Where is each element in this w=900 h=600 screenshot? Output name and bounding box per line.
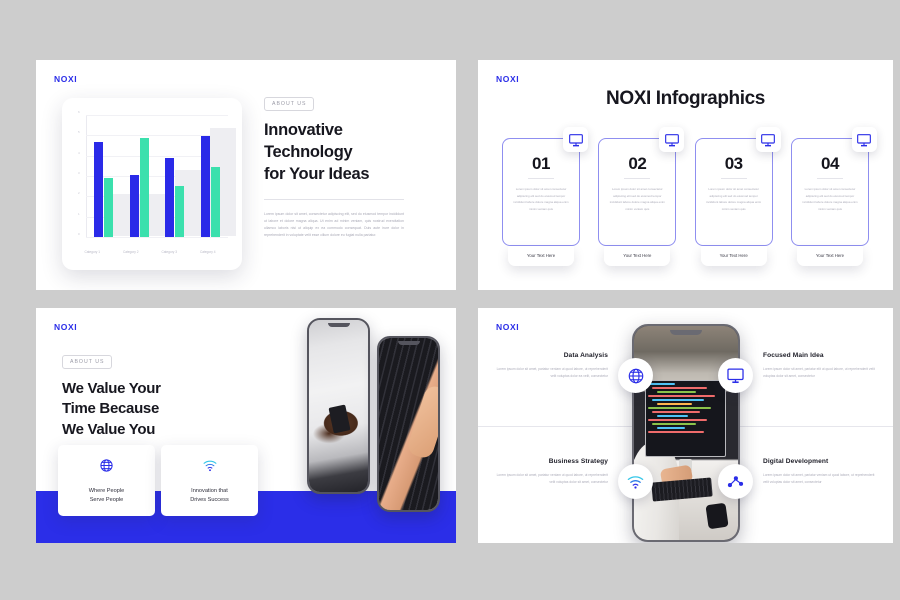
card-number: 02: [607, 155, 667, 172]
label-line-2: Serve People: [64, 496, 149, 504]
feature-body: Lorem ipsum dolor sit amet, pariatur ven…: [496, 472, 608, 486]
bar[interactable]: [94, 142, 103, 237]
title-line-1: We Value Your: [62, 379, 161, 399]
code-line: [657, 391, 696, 393]
wifi-icon: [202, 460, 218, 477]
divider: [528, 178, 554, 179]
infographic-card[interactable]: 04Lorem ipsum dolor sit amet consectetur…: [791, 138, 869, 266]
monitor-icon[interactable]: [718, 358, 753, 393]
page-title: Innovative Technology for Your Ideas: [264, 120, 424, 186]
y-axis-tick-label: 6: [78, 110, 80, 114]
feature-card-list: Where People Serve People Innovation tha…: [58, 445, 258, 516]
feature-heading: Business Strategy: [496, 458, 608, 465]
bar-group: [123, 115, 156, 237]
share-nodes-icon[interactable]: [718, 464, 753, 499]
globe-icon: [99, 460, 114, 477]
feature-card-label: Innovation that Drives Success: [167, 487, 252, 504]
chart-plot-area: 0123456: [86, 116, 228, 238]
feature-heading: Focused Main Idea: [763, 352, 875, 359]
code-line: [652, 399, 703, 401]
card-number: 03: [704, 155, 764, 172]
feature-heading: Digital Development: [763, 458, 875, 465]
feature-item-business-strategy: Business Strategy Lorem ipsum dolor sit …: [496, 458, 608, 486]
bar[interactable]: [211, 167, 220, 237]
divider: [624, 178, 650, 179]
divider: [264, 199, 404, 200]
grid-line: [86, 237, 228, 238]
page-title: NOXI Infographics: [478, 88, 893, 110]
code-line: [648, 431, 704, 433]
card-body-text: Lorem ipsum dolor sit amet consectetur a…: [800, 186, 860, 213]
developer-at-desk-photo: [634, 326, 738, 540]
code-line: [657, 427, 685, 429]
body-paragraph: Lorem ipsum dolor sit amet, consectetur …: [264, 211, 404, 240]
code-line: [652, 423, 696, 425]
phone-mockup-right: [377, 336, 440, 512]
infographic-card[interactable]: 02Lorem ipsum dolor sit amet consectetur…: [598, 138, 676, 266]
globe-icon[interactable]: [618, 358, 653, 393]
monitor-screen-with-code: [645, 380, 726, 457]
wifi-icon[interactable]: [618, 464, 653, 499]
feature-body: Lorem ipsum dolor sit amet, pariatur ven…: [496, 366, 608, 380]
card-body-text: Lorem ipsum dolor sit amet consectetur a…: [511, 186, 571, 213]
keyboard: [651, 477, 713, 501]
monitor-icon[interactable]: [563, 127, 588, 152]
infographic-card-list: 01Lorem ipsum dolor sit amet consectetur…: [502, 138, 869, 266]
about-us-badge: ABOUT US: [264, 97, 314, 111]
code-line: [648, 383, 675, 385]
slide-3-text-block: ABOUT US We Value Your Time Because We V…: [62, 350, 161, 440]
infographic-card-body[interactable]: 03Lorem ipsum dolor sit amet consectetur…: [695, 138, 773, 246]
logo-noxi: NOXI: [54, 322, 77, 332]
card-tab-label[interactable]: Your Text Here: [508, 246, 574, 266]
card-number: 01: [511, 155, 571, 172]
infographic-card[interactable]: 03Lorem ipsum dolor sit amet consectetur…: [695, 138, 773, 266]
card-tab-label[interactable]: Your Text Here: [701, 246, 767, 266]
feature-body: Lorem ipsum dolor sit amet, pariatur ven…: [763, 472, 875, 486]
card-body-text: Lorem ipsum dolor sit amet consectetur a…: [607, 186, 667, 213]
card-tab-label[interactable]: Your Text Here: [604, 246, 670, 266]
title-line-3: We Value You: [62, 420, 161, 440]
infographic-card-body[interactable]: 04Lorem ipsum dolor sit amet consectetur…: [791, 138, 869, 246]
feature-card-where-people-serve-people[interactable]: Where People Serve People: [58, 445, 155, 516]
y-axis-tick-label: 2: [78, 191, 80, 195]
phone-mockup-center: [632, 324, 740, 542]
y-axis-tick-label: 4: [78, 151, 80, 155]
label-line-2: Drives Success: [167, 496, 252, 504]
code-line: [652, 411, 699, 413]
bar-group: [87, 115, 120, 237]
monitor-icon[interactable]: [659, 127, 684, 152]
phone-mockup-group: [307, 318, 440, 512]
x-axis-tick-label: Category 4: [189, 250, 228, 254]
phone-mockup-left: [307, 318, 370, 494]
divider: [817, 178, 843, 179]
hands-holding-phone-photo: [309, 320, 368, 492]
title-line-2: Time Because: [62, 399, 161, 419]
y-axis-tick-label: 3: [78, 171, 80, 175]
y-axis-tick-label: 1: [78, 212, 80, 216]
bar[interactable]: [130, 175, 139, 237]
bar-group: [194, 115, 227, 237]
y-axis-tick-label: 0: [78, 232, 80, 236]
slide-1-innovative-technology[interactable]: NOXI 0123456 Category 1Category 2Categor…: [36, 60, 456, 290]
infographic-card[interactable]: 01Lorem ipsum dolor sit amet consectetur…: [502, 138, 580, 266]
slide-3-we-value-your-time[interactable]: NOXI ABOUT US We Value Your Time Because…: [36, 308, 456, 543]
monitor-icon[interactable]: [756, 127, 781, 152]
bar[interactable]: [104, 178, 113, 237]
logo-noxi: NOXI: [496, 322, 519, 332]
code-line: [657, 403, 692, 405]
code-line: [648, 395, 715, 397]
hand-on-laptop-keyboard-photo: [379, 338, 438, 510]
code-line: [652, 387, 707, 389]
feature-body: Lorem ipsum dolor sit amet, pariatur eli…: [763, 366, 875, 380]
divider: [721, 178, 747, 179]
feature-card-label: Where People Serve People: [64, 487, 149, 504]
feature-item-data-analysis: Data Analysis Lorem ipsum dolor sit amet…: [496, 352, 608, 380]
feature-heading: Data Analysis: [496, 352, 608, 359]
card-tab-label[interactable]: Your Text Here: [797, 246, 863, 266]
slide-deck-preview: NOXI 0123456 Category 1Category 2Categor…: [0, 0, 900, 600]
x-axis-tick-label: Category 2: [112, 250, 151, 254]
x-axis-tick-label: Category 3: [150, 250, 189, 254]
slide-1-text-block: ABOUT US Innovative Technology for Your …: [264, 92, 424, 240]
bar-chart: 0123456 Category 1Category 2Category 3Ca…: [76, 112, 230, 256]
code-line: [657, 415, 689, 417]
title-line-3: for Your Ideas: [264, 164, 424, 186]
page-title: We Value Your Time Because We Value You: [62, 379, 161, 440]
feature-card-innovation-that-drives-success[interactable]: Innovation that Drives Success: [161, 445, 258, 516]
title-line-2: Technology: [264, 142, 424, 164]
code-line: [648, 407, 711, 409]
bar[interactable]: [165, 158, 174, 237]
infographic-card-body[interactable]: 01Lorem ipsum dolor sit amet consectetur…: [502, 138, 580, 246]
mouse: [706, 502, 729, 528]
chart-card: 0123456 Category 1Category 2Category 3Ca…: [62, 98, 242, 270]
code-line: [648, 419, 707, 421]
bar[interactable]: [140, 138, 149, 237]
card-number: 04: [800, 155, 860, 172]
logo-noxi: NOXI: [54, 74, 77, 84]
feature-item-focused-main-idea: Focused Main Idea Lorem ipsum dolor sit …: [763, 352, 875, 380]
label-line-1: Where People: [64, 487, 149, 495]
bar[interactable]: [175, 186, 184, 237]
label-line-1: Innovation that: [167, 487, 252, 495]
title-line-1: Innovative: [264, 120, 424, 142]
feature-item-digital-development: Digital Development Lorem ipsum dolor si…: [763, 458, 875, 486]
card-body-text: Lorem ipsum dolor sit amet consectetur a…: [704, 186, 764, 213]
about-us-badge: ABOUT US: [62, 355, 112, 369]
slide-4-four-feature-grid[interactable]: NOXI Data Analysis Lorem ipsum dolor sit…: [478, 308, 893, 543]
bar-group: [158, 115, 191, 237]
y-axis-tick-label: 5: [78, 130, 80, 134]
bar[interactable]: [201, 136, 210, 237]
x-axis-tick-label: Category 1: [73, 250, 112, 254]
slide-2-noxi-infographics[interactable]: NOXI NOXI Infographics 01Lorem ipsum dol…: [478, 60, 893, 290]
logo-noxi: NOXI: [496, 74, 519, 84]
infographic-card-body[interactable]: 02Lorem ipsum dolor sit amet consectetur…: [598, 138, 676, 246]
monitor-icon[interactable]: [852, 127, 877, 152]
